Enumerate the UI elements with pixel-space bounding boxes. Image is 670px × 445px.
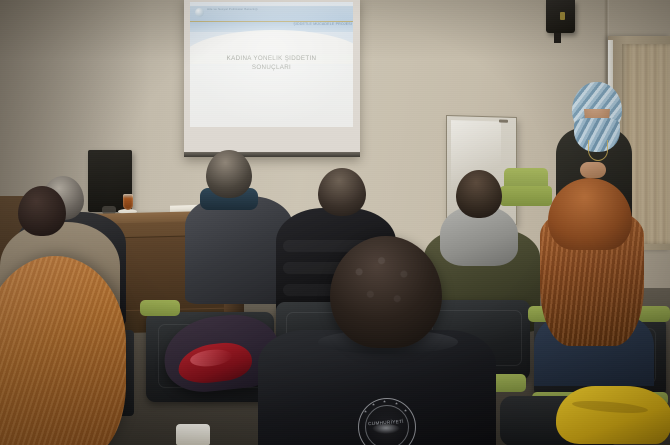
emblem-eagle-icon — [372, 424, 400, 434]
screen-bottom-bar — [184, 152, 360, 157]
presenter-hands — [580, 162, 606, 178]
ministry-logo-icon — [195, 8, 204, 17]
slide-title-line2: SONUÇLARI — [252, 64, 291, 71]
yellow-jacket — [556, 386, 670, 444]
paper-cup — [176, 424, 210, 445]
speaker-stem — [554, 33, 561, 43]
attendee-man-puffer-head — [318, 168, 366, 216]
attendee-woman-shawl-head — [18, 186, 66, 236]
rust-scarf-knit-texture — [0, 256, 126, 445]
presenter-necklace — [588, 140, 608, 161]
attendee-man-hoodie-head — [206, 150, 252, 198]
whiteboard-clip — [499, 119, 508, 122]
slide-title: KADINA YÖNELİK ŞİDDETİN SONUÇLARI — [198, 54, 345, 72]
chair-seat-left — [140, 300, 180, 316]
attendee-man-olive-head — [456, 170, 502, 218]
speaker-led-icon — [560, 12, 565, 20]
slide-subtitle: ŞİDDETLE MÜCADELE PROJESİ — [266, 22, 352, 26]
tea-glass — [123, 194, 133, 210]
photograph: Aile ve Sosyal Politikalar Bakanlığı ŞİD… — [0, 0, 670, 445]
slide-org-line1: Aile ve Sosyal Politikalar Bakanlığı — [207, 7, 287, 11]
empty-chair-seat — [500, 186, 552, 206]
foreground-hair-texture — [330, 236, 442, 348]
slide-title-line1: KADINA YÖNELİK ŞİDDETİN — [227, 55, 317, 62]
presentation-slide: Aile ve Sosyal Politikalar Bakanlığı ŞİD… — [190, 2, 353, 127]
